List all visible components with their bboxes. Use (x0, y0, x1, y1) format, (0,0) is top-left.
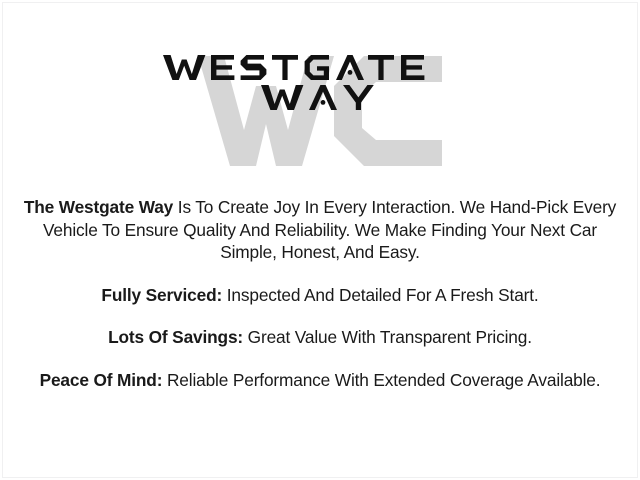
paragraph-body: Reliable Performance With Extended Cover… (162, 370, 600, 390)
brand-wordmark: WESTGATE (0, 52, 640, 112)
brand-logo: WESTGATE (0, 52, 640, 178)
paragraph-lead: Lots Of Savings: (108, 327, 243, 347)
paragraph-lead: The Westgate Way (24, 197, 173, 217)
paragraph-body: Inspected And Detailed For A Fresh Start… (222, 285, 538, 305)
paragraph-lots-of-savings: Lots Of Savings: Great Value With Transp… (14, 326, 626, 349)
paragraph-lead: Peace Of Mind: (40, 370, 163, 390)
wordmark-line-westgate: WESTGATE (161, 52, 479, 82)
paragraph-fully-serviced: Fully Serviced: Inspected And Detailed F… (14, 284, 626, 307)
wordmark-line-way: WAY (259, 82, 381, 112)
paragraph-lead: Fully Serviced: (101, 285, 222, 305)
paragraph-westgate-way: The Westgate Way Is To Create Joy In Eve… (14, 196, 626, 264)
paragraph-body: Great Value With Transparent Pricing. (243, 327, 532, 347)
westgate-way-card: WESTGATE (0, 0, 640, 480)
value-proposition-copy: The Westgate Way Is To Create Joy In Eve… (0, 196, 640, 391)
paragraph-peace-of-mind: Peace Of Mind: Reliable Performance With… (14, 369, 626, 392)
